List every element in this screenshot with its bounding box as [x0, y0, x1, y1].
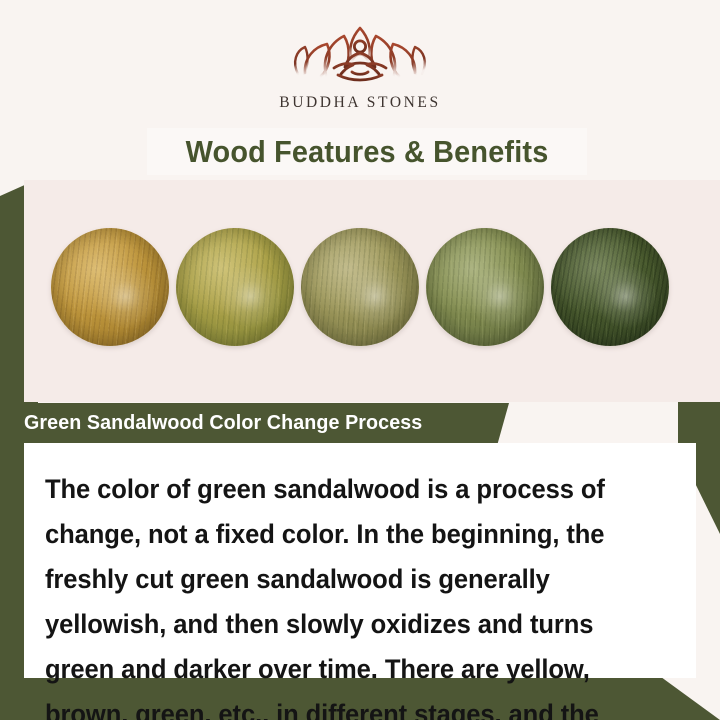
description-paragraph: The color of green sandalwood is a proce…: [45, 467, 663, 720]
bead-stage-3: [301, 228, 419, 346]
bead-stage-2: [176, 228, 294, 346]
brand-name: BUDDHA STONES: [279, 94, 440, 112]
bead-stage-1: [51, 228, 169, 346]
section-ribbon: Green Sandalwood Color Change Process: [0, 403, 509, 443]
lotus-meditation-icon: [274, 22, 446, 88]
section-ribbon-label: Green Sandalwood Color Change Process: [24, 411, 422, 435]
infographic-canvas: BUDDHA STONES Wood Features & Benefits: [0, 0, 720, 720]
page-title-band: Wood Features & Benefits: [147, 128, 587, 175]
brand-logo: BUDDHA STONES: [0, 22, 720, 118]
bead-showcase-panel: [24, 180, 720, 402]
header-section: BUDDHA STONES Wood Features & Benefits: [0, 0, 720, 180]
bead-stage-4: [426, 228, 544, 346]
description-card: The color of green sandalwood is a proce…: [24, 443, 696, 678]
bead-row: [24, 180, 720, 402]
bead-stage-5: [551, 228, 669, 346]
page-title: Wood Features & Benefits: [186, 134, 549, 170]
